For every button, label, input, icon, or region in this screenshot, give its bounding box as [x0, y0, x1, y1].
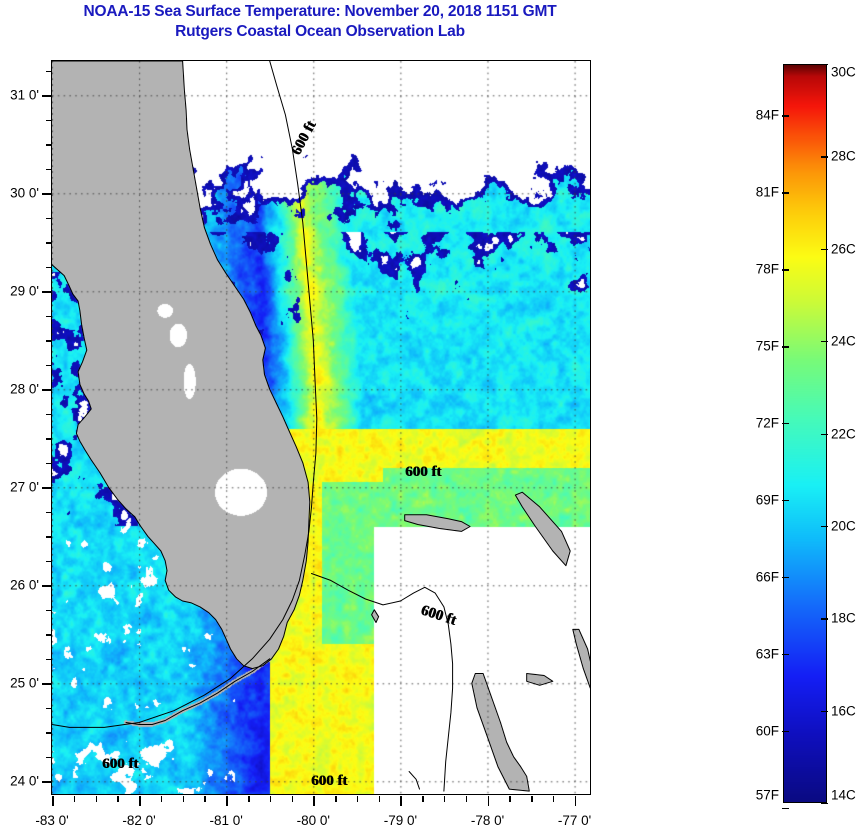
y-axis-label: 28 0'	[10, 382, 39, 397]
y-tick	[46, 414, 52, 416]
colorbar-label-fahrenheit: 69F	[756, 493, 779, 508]
x-tick	[509, 796, 511, 802]
colorbar-label-celsius: 22C	[831, 426, 856, 441]
y-tick	[42, 389, 52, 391]
y-tick	[46, 144, 52, 146]
colorbar-label-fahrenheit: 84F	[756, 108, 779, 123]
colorbar-tick-f	[782, 346, 789, 347]
colorbar-tick-f	[782, 577, 789, 578]
colorbar-label-fahrenheit: 81F	[756, 185, 779, 200]
y-axis-label: 25 0'	[10, 676, 39, 691]
x-tick	[139, 796, 141, 806]
y-tick	[42, 95, 52, 97]
chart-title: NOAA-15 Sea Surface Temperature: Novembe…	[0, 2, 640, 42]
colorbar-tick-f	[782, 115, 789, 116]
colorbar-tick-f	[782, 808, 789, 809]
x-axis-label: -80 0'	[297, 813, 330, 828]
colorbar-label-fahrenheit: 60F	[756, 724, 779, 739]
y-tick	[46, 708, 52, 710]
y-axis-label: 29 0'	[10, 284, 39, 299]
y-tick	[46, 340, 52, 342]
x-tick	[313, 796, 315, 806]
colorbar-label-celsius: 18C	[831, 611, 856, 626]
colorbar-label-fahrenheit: 78F	[756, 262, 779, 277]
x-tick	[531, 796, 533, 802]
map-overlay-vectors	[52, 61, 590, 794]
x-tick	[575, 796, 577, 806]
x-axis-label: -79 0'	[384, 813, 417, 828]
sst-map-plot[interactable]: 31 0'30 0'29 0'28 0'27 0'26 0'25 0'24 0'…	[51, 60, 591, 795]
colorbar-label-fahrenheit: 63F	[756, 647, 779, 662]
colorbar-label-fahrenheit: 72F	[756, 416, 779, 431]
y-tick	[46, 536, 52, 538]
x-tick	[422, 796, 424, 802]
colorbar-tick-f	[782, 654, 789, 655]
x-tick	[204, 796, 206, 802]
colorbar-tick-c	[821, 249, 828, 250]
title-line-1: NOAA-15 Sea Surface Temperature: Novembe…	[0, 2, 640, 22]
colorbar-tick-c	[821, 64, 828, 65]
x-axis-label: -78 0'	[471, 813, 504, 828]
title-line-2: Rutgers Coastal Ocean Observation Lab	[0, 22, 640, 42]
x-tick	[183, 796, 185, 802]
y-axis-label: 26 0'	[10, 578, 39, 593]
x-tick	[117, 796, 119, 802]
x-tick	[379, 796, 381, 802]
x-axis-label: -81 0'	[210, 813, 243, 828]
y-tick	[42, 683, 52, 685]
y-tick	[46, 659, 52, 661]
x-tick	[96, 796, 98, 802]
y-axis-label: 24 0'	[10, 774, 39, 789]
y-tick	[46, 757, 52, 759]
x-tick	[74, 796, 76, 802]
colorbar-tick-c	[821, 711, 828, 712]
y-tick	[42, 487, 52, 489]
x-tick	[226, 796, 228, 806]
colorbar-tick-c	[821, 526, 828, 527]
map-canvas-clip	[52, 61, 590, 794]
y-tick	[46, 732, 52, 734]
colorbar-tick-f	[782, 500, 789, 501]
colorbar-tick-c	[821, 803, 828, 804]
colorbar-tick-f	[782, 423, 789, 424]
colorbar-label-fahrenheit: 57F	[756, 788, 779, 803]
colorbar-label-celsius: 28C	[831, 149, 856, 164]
x-axis-label: -77 0'	[558, 813, 591, 828]
depth-contour-600ft	[52, 61, 453, 791]
y-tick	[46, 242, 52, 244]
colorbar-tick-f	[782, 269, 789, 270]
y-axis-label: 31 0'	[10, 88, 39, 103]
x-tick	[292, 796, 294, 802]
x-tick	[270, 796, 272, 802]
y-tick	[46, 169, 52, 171]
colorbar-tick-f	[782, 192, 789, 193]
y-tick	[46, 610, 52, 612]
coastline-vectors	[52, 61, 590, 791]
y-axis-label: 30 0'	[10, 186, 39, 201]
x-tick	[335, 796, 337, 802]
depth-contour-label: 600 ft	[102, 756, 138, 773]
y-tick	[46, 71, 52, 73]
colorbar-tick-c	[821, 156, 828, 157]
y-tick	[46, 561, 52, 563]
colorbar-label-fahrenheit: 75F	[756, 339, 779, 354]
colorbar-label-celsius: 30C	[831, 65, 856, 80]
x-tick	[52, 796, 54, 806]
x-tick	[357, 796, 359, 802]
y-tick	[46, 316, 52, 318]
y-tick	[46, 512, 52, 514]
y-tick	[42, 781, 52, 783]
colorbar-label-celsius: 20C	[831, 518, 856, 533]
colorbar-label-fahrenheit: 66F	[756, 570, 779, 585]
x-axis-label: -83 0'	[35, 813, 68, 828]
depth-contour-label: 600 ft	[405, 464, 441, 481]
colorbar-tick-f	[782, 731, 789, 732]
x-tick	[444, 796, 446, 802]
colorbar-tick-c	[821, 341, 828, 342]
y-tick	[42, 291, 52, 293]
x-tick	[466, 796, 468, 802]
y-tick	[46, 120, 52, 122]
y-tick	[42, 585, 52, 587]
y-tick	[46, 634, 52, 636]
y-tick	[46, 218, 52, 220]
y-tick	[46, 438, 52, 440]
x-tick	[488, 796, 490, 806]
x-tick	[400, 796, 402, 806]
x-tick	[161, 796, 163, 802]
colorbar-tick-c	[821, 434, 828, 435]
colorbar[interactable]: 30C28C26C24C22C20C18C16C14C84F81F78F75F7…	[783, 64, 827, 803]
colorbar-tick-c	[821, 618, 828, 619]
y-tick	[46, 267, 52, 269]
y-axis-label: 27 0'	[10, 480, 39, 495]
y-tick	[42, 193, 52, 195]
colorbar-label-celsius: 24C	[831, 334, 856, 349]
depth-contour-label: 600 ft	[311, 773, 347, 790]
x-tick	[553, 796, 555, 802]
colorbar-label-celsius: 16C	[831, 703, 856, 718]
x-axis-label: -82 0'	[122, 813, 155, 828]
colorbar-label-celsius: 26C	[831, 241, 856, 256]
y-tick	[46, 463, 52, 465]
x-tick	[248, 796, 250, 802]
y-tick	[46, 365, 52, 367]
colorbar-label-celsius: 14C	[831, 788, 856, 803]
